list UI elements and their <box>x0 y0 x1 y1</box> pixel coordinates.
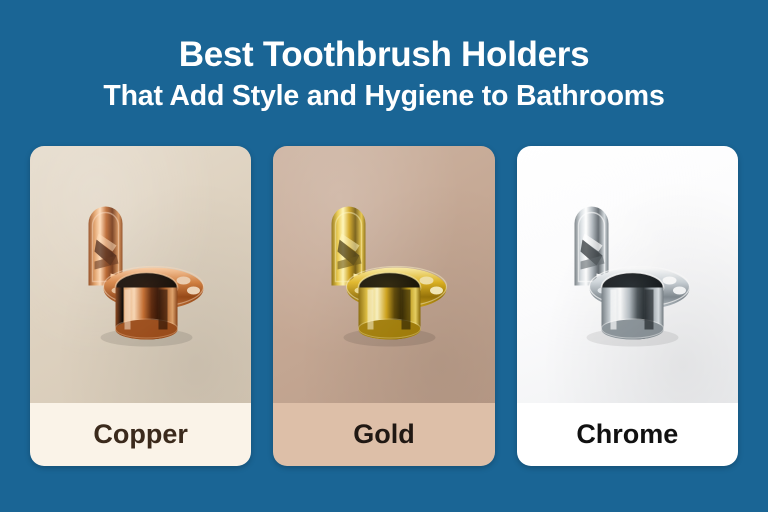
poster-canvas: Best Toothbrush Holders That Add Style a… <box>0 0 768 512</box>
product-label-gold: Gold <box>273 403 494 466</box>
product-card-chrome[interactable]: Chrome <box>517 146 738 466</box>
product-card-list: Copper <box>30 146 738 466</box>
product-card-copper[interactable]: Copper <box>30 146 251 466</box>
product-label-copper: Copper <box>30 403 251 466</box>
poster-header: Best Toothbrush Holders That Add Style a… <box>0 34 768 114</box>
product-photo-chrome <box>517 146 738 403</box>
page-subtitle: That Add Style and Hygiene to Bathrooms <box>0 78 768 114</box>
toothbrush-holder-gold-icon <box>301 187 466 362</box>
toothbrush-holder-copper-icon <box>58 187 223 362</box>
page-title: Best Toothbrush Holders <box>0 34 768 76</box>
product-card-gold[interactable]: Gold <box>273 146 494 466</box>
product-label-chrome: Chrome <box>517 403 738 466</box>
product-photo-copper <box>30 146 251 403</box>
toothbrush-holder-chrome-icon <box>545 187 710 362</box>
product-photo-gold <box>273 146 494 403</box>
